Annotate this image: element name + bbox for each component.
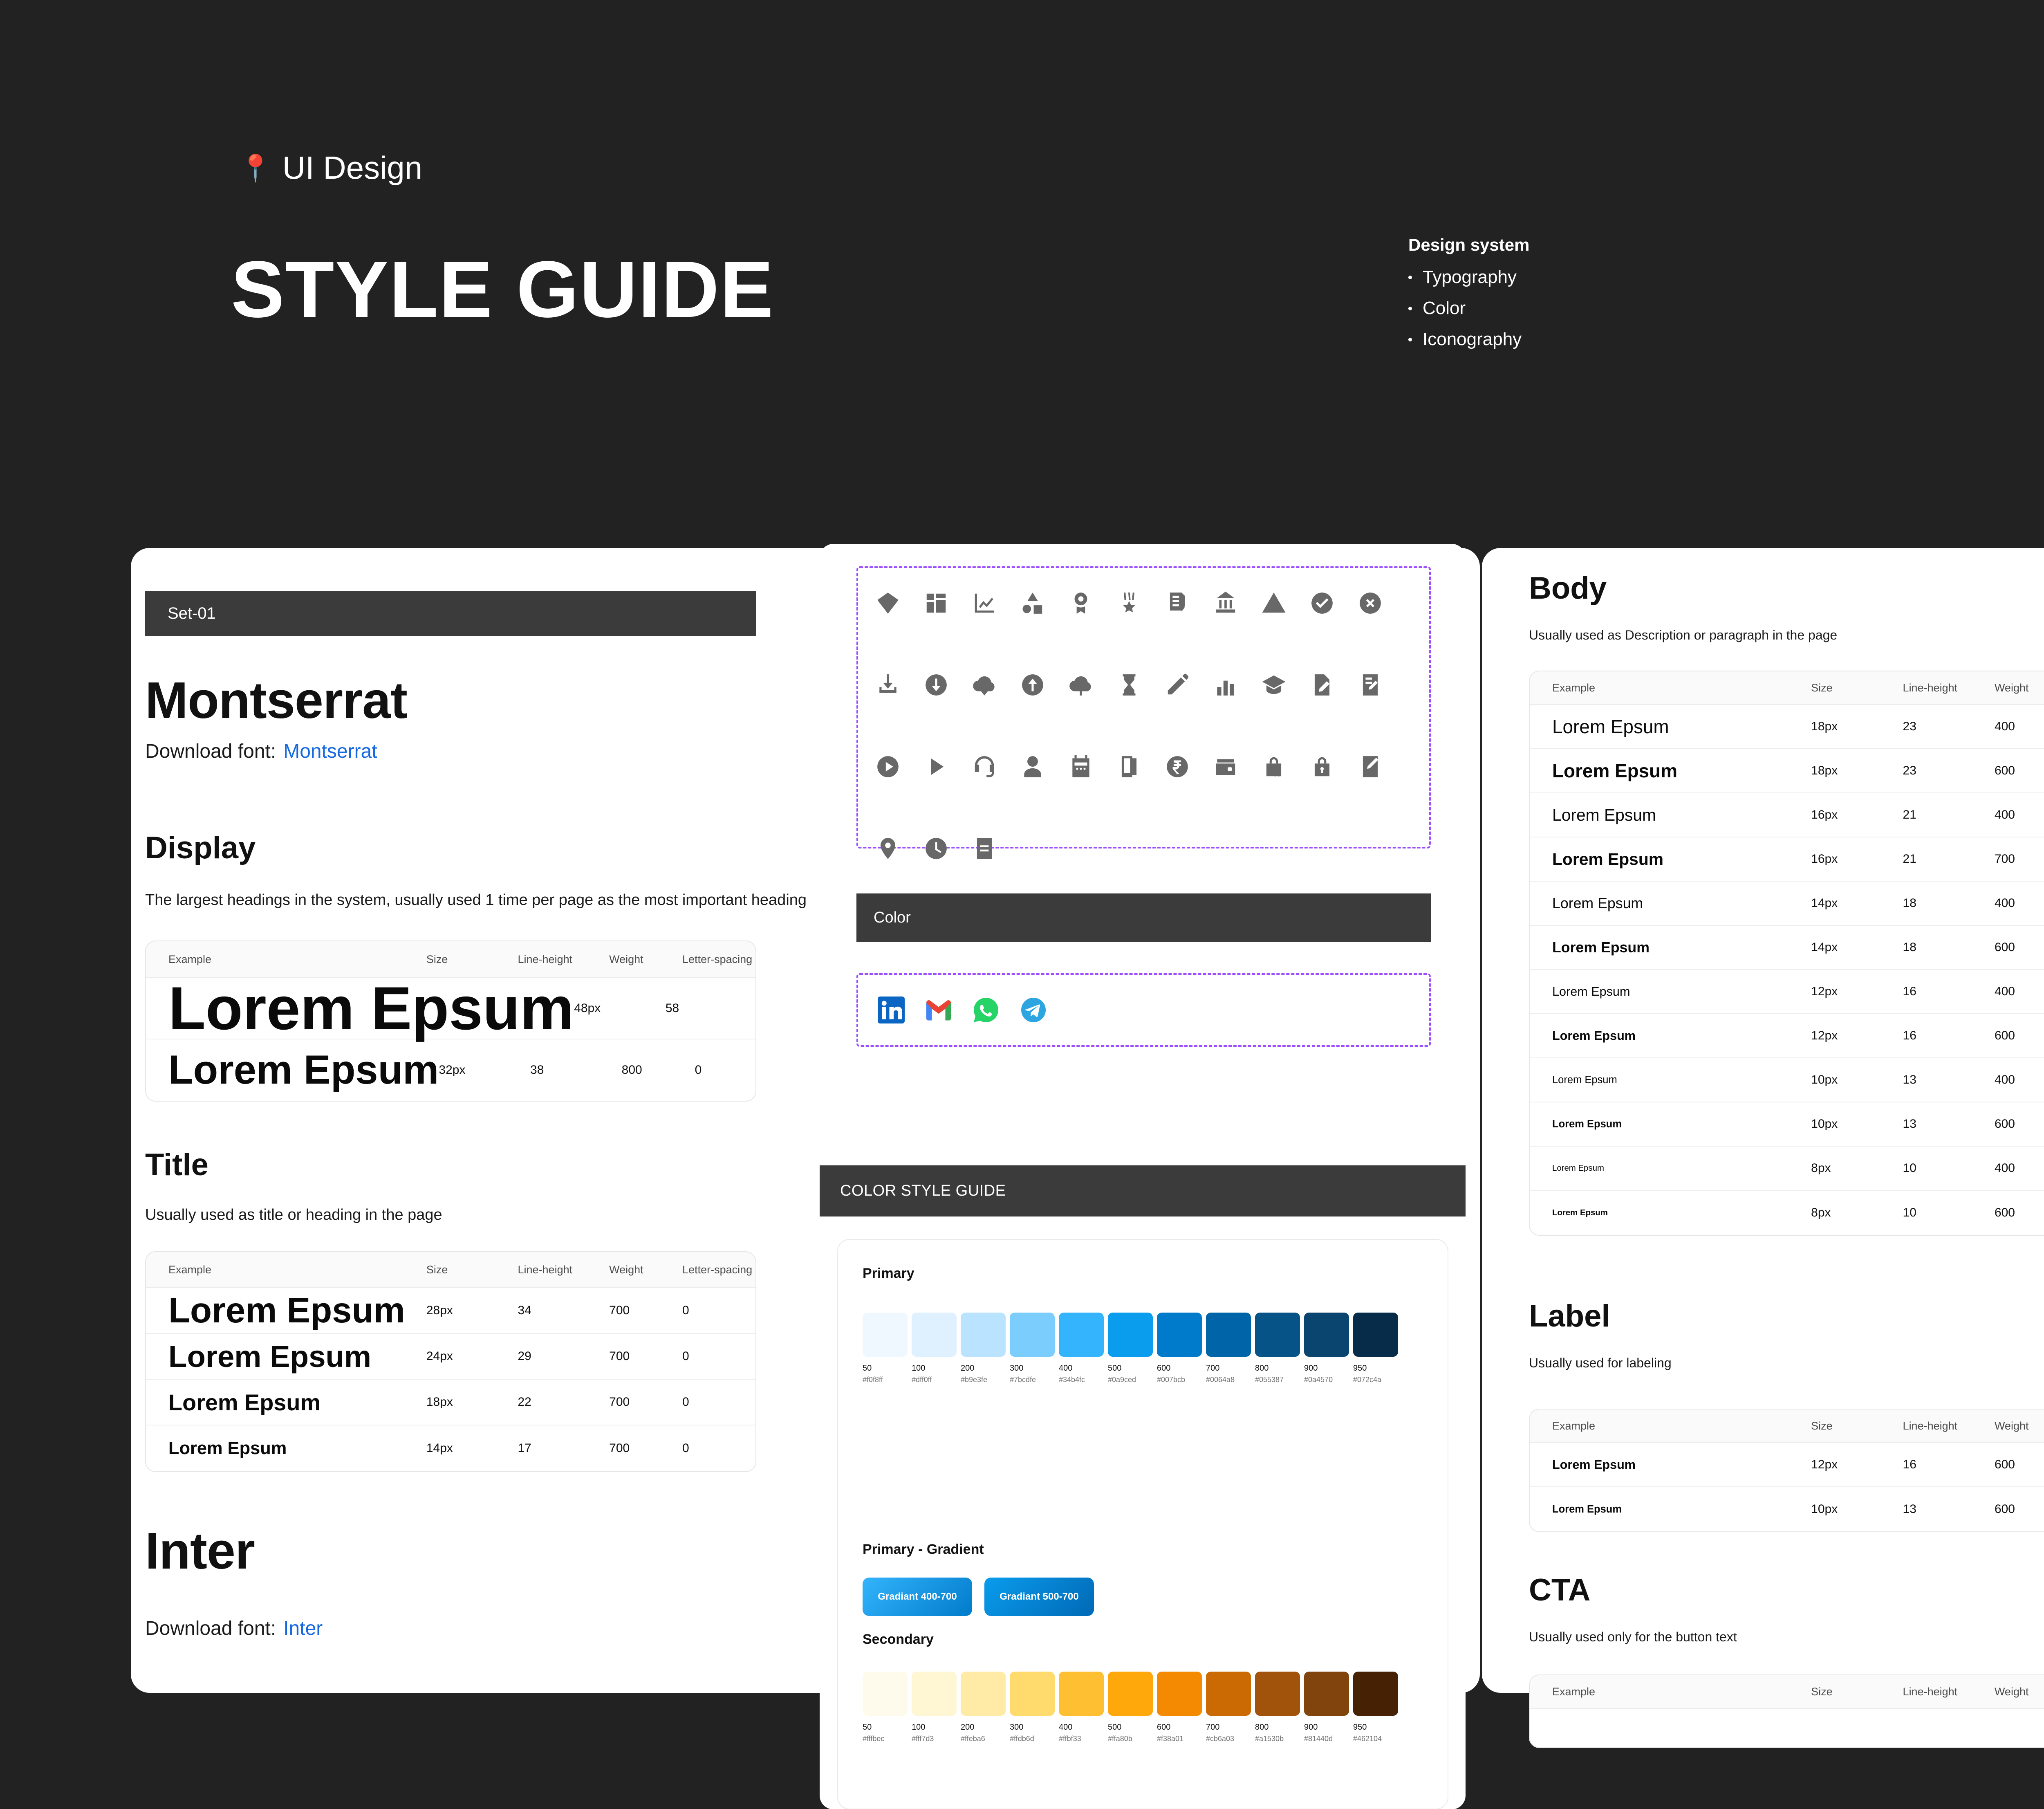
cell-size: 14px	[1811, 940, 1903, 954]
table-row: Lorem Epsum10px134000	[1530, 1058, 2044, 1102]
hourglass-icon[interactable]	[1116, 670, 1165, 700]
cell-line-height: 16	[1903, 985, 1995, 999]
design-system-list: Typography Color Iconography	[1408, 267, 1529, 350]
label-description: Usually used for labeling	[1529, 1356, 1672, 1371]
swatch-hex: #0a9ced	[1108, 1376, 1153, 1384]
example-text: Lorem Epsum	[168, 1340, 371, 1374]
cell-size: 14px	[1811, 896, 1903, 910]
cell-weight: 800	[622, 1063, 695, 1077]
rupee-icon[interactable]	[1165, 752, 1213, 781]
swatch-step: 200	[961, 1723, 1006, 1732]
swatch-hex: #f0f8ff	[863, 1376, 908, 1384]
design-system-item[interactable]: Iconography	[1408, 329, 1529, 350]
download-icon[interactable]	[875, 670, 923, 700]
cell-letter-spacing: 0	[682, 1395, 755, 1409]
color-swatch[interactable]: 50#fffbec	[863, 1672, 908, 1743]
cell-example: Lorem Epsum	[146, 973, 574, 1044]
award-icon[interactable]	[1068, 588, 1116, 618]
color-swatch[interactable]: 950#462104	[1353, 1672, 1398, 1743]
download-circle-icon[interactable]	[923, 670, 972, 700]
swatch-step: 700	[1206, 1364, 1251, 1373]
cell-letter-spacing: 0	[682, 1304, 755, 1317]
table-row: Lorem Epsum24px297000	[146, 1334, 755, 1380]
clock-icon[interactable]	[923, 834, 972, 863]
color-style-guide-label: COLOR STYLE GUIDE	[820, 1182, 1006, 1200]
font-download-link[interactable]: Montserrat	[283, 741, 377, 762]
color-swatch[interactable]: 100#fff7d3	[912, 1672, 957, 1743]
cell-line-height: 13	[1903, 1073, 1995, 1087]
swatch-hex: #b9e3fe	[961, 1376, 1006, 1384]
whatsapp-icon[interactable]	[971, 995, 1001, 1025]
color-style-guide-bar: COLOR STYLE GUIDE	[820, 1165, 1466, 1216]
swatch-chip	[1010, 1672, 1055, 1716]
cell-example: Lorem Epsum	[146, 1290, 426, 1331]
cell-example: Lorem Epsum	[1530, 1208, 1811, 1218]
icon-grid	[856, 566, 1431, 848]
cell-line-height: 34	[518, 1304, 610, 1317]
bullet-icon	[1408, 276, 1412, 279]
diamond-icon[interactable]	[875, 588, 923, 618]
swatch-step: 600	[1157, 1723, 1202, 1732]
cell-line-height: 17	[518, 1441, 610, 1455]
color-swatch[interactable]: 500#ffa80b	[1108, 1672, 1153, 1743]
cell-line-height: 18	[1903, 940, 1995, 954]
warning-icon[interactable]	[1261, 588, 1309, 618]
cancel-icon[interactable]	[1358, 588, 1406, 618]
design-system-item-label: Iconography	[1423, 329, 1522, 350]
title-heading: Title	[145, 1147, 208, 1183]
cell-line-height: 13	[1903, 1117, 1995, 1131]
swatch-chip	[1255, 1672, 1300, 1716]
gradient-400-700-box[interactable]: Gradiant 400-700	[863, 1578, 972, 1616]
color-swatch[interactable]: 600#f38a01	[1157, 1672, 1202, 1743]
color-swatch[interactable]: 400#34b4fc	[1059, 1313, 1104, 1384]
font-download-link[interactable]: Inter	[283, 1618, 323, 1639]
assignment-icon[interactable]	[1309, 670, 1358, 700]
book-icon[interactable]	[1116, 752, 1165, 781]
swatch-chip	[1059, 1313, 1104, 1357]
page-title: STYLE GUIDE	[231, 249, 774, 330]
swatch-chip	[1059, 1672, 1104, 1716]
cell-line-height: 16	[1903, 1029, 1995, 1043]
swatch-chip	[1353, 1672, 1398, 1716]
cell-weight: 700	[1995, 852, 2044, 866]
cta-description: Usually used only for the button text	[1529, 1629, 1737, 1645]
example-text: Lorem Epsum	[1552, 716, 1669, 737]
swatch-chip	[1108, 1672, 1153, 1716]
swatch-chip	[961, 1313, 1006, 1357]
swatch-chip	[863, 1313, 908, 1357]
color-swatch[interactable]: 200#b9e3fe	[961, 1313, 1006, 1384]
gmail-icon[interactable]	[924, 995, 953, 1025]
set-bar: Set-01	[145, 591, 756, 636]
table-header-row: ExampleSizeLine-heightWeightLetter-spaci…	[1530, 1675, 2044, 1709]
table-row: Lorem Epsum18px227000	[146, 1380, 755, 1425]
example-text: Lorem Epsum	[1552, 1074, 1617, 1086]
cell-weight: 700	[609, 1304, 682, 1317]
swatch-hex: #fffbec	[863, 1735, 908, 1743]
table-row: Lorem Epsum14px177000	[146, 1425, 755, 1471]
headset-icon[interactable]	[972, 752, 1020, 781]
cell-weight: 700	[609, 1441, 682, 1455]
linkedin-icon[interactable]	[876, 995, 906, 1025]
article-icon[interactable]	[1165, 588, 1213, 618]
cell-size: 8px	[1811, 1206, 1903, 1220]
bullet-icon	[1408, 338, 1412, 341]
swatch-step: 50	[863, 1364, 908, 1373]
cell-example: Lorem Epsum	[1530, 760, 1811, 782]
swatch-step: 100	[912, 1364, 957, 1373]
cell-weight: 600	[1995, 940, 2044, 954]
cell-letter-spacing: 0	[682, 1441, 755, 1455]
cta-table: ExampleSizeLine-heightWeightLetter-spaci…	[1529, 1674, 2044, 1748]
swatch-hex: #072c4a	[1353, 1376, 1398, 1384]
table-row: Lorem Epsum8px106000	[1530, 1191, 2044, 1235]
swatch-step: 700	[1206, 1723, 1251, 1732]
cell-size: 8px	[1811, 1161, 1903, 1175]
cell-size: 12px	[1811, 1458, 1903, 1472]
table-header-row: ExampleSizeLine-heightWeightLetter-spaci…	[146, 1252, 755, 1288]
lock-icon[interactable]	[1309, 752, 1358, 781]
swatch-chip	[1157, 1313, 1202, 1357]
cell-example: Lorem Epsum	[1530, 716, 1811, 738]
cell-line-height: 16	[1903, 1458, 1995, 1472]
bullet-icon	[1408, 307, 1412, 310]
column-header: Letter-spacing	[682, 953, 755, 966]
cell-example: Lorem Epsum	[1530, 850, 1811, 869]
swatch-step: 500	[1108, 1723, 1153, 1732]
edit-note-icon[interactable]	[1358, 752, 1406, 781]
cell-weight: 600	[1995, 1458, 2044, 1472]
swatch-step: 400	[1059, 1723, 1104, 1732]
color-swatch[interactable]: 50#f0f8ff	[863, 1313, 908, 1384]
example-text: Lorem Epsum	[168, 1291, 405, 1330]
column-header: Example	[146, 953, 426, 966]
color-swatch[interactable]: 700#cb6a03	[1206, 1672, 1251, 1743]
category-icon[interactable]	[1020, 588, 1068, 618]
color-swatch[interactable]: 600#007bcb	[1157, 1313, 1202, 1384]
column-header: Weight	[609, 1264, 682, 1276]
swatch-chip	[1255, 1313, 1300, 1357]
column-header: Example	[1530, 682, 1811, 694]
column-header: Line-height	[1903, 682, 1995, 694]
cell-weight: 400	[1995, 1073, 2044, 1087]
swatch-hex: #81440d	[1304, 1735, 1349, 1743]
cell-example: Lorem Epsum	[146, 1389, 426, 1416]
swatch-step: 950	[1353, 1723, 1398, 1732]
gradient-500-700-box[interactable]: Gradiant 500-700	[984, 1578, 1094, 1616]
cell-example: Lorem Epsum	[1530, 1504, 1811, 1515]
cell-weight: 400	[1995, 985, 2044, 999]
swatch-step: 100	[912, 1723, 957, 1732]
color-swatch[interactable]: 700#0064a8	[1206, 1313, 1251, 1384]
download-font-inter: Download font:Inter	[145, 1617, 323, 1640]
column-header: Line-height	[1903, 1420, 1995, 1432]
cell-weight: 700	[609, 1395, 682, 1409]
pencil-icon[interactable]	[1165, 670, 1213, 700]
table-header-row: ExampleSizeLine-heightWeightLetter-spaci…	[1530, 1409, 2044, 1443]
label-table: ExampleSizeLine-heightWeightLetter-spaci…	[1529, 1409, 2044, 1532]
display-table: ExampleSizeLine-heightWeightLetter-spaci…	[145, 940, 756, 1102]
cell-size: 14px	[426, 1441, 518, 1455]
table-row: Lorem Epsum8px104000	[1530, 1147, 2044, 1191]
color-swatch[interactable]: 200#ffeba6	[961, 1672, 1006, 1743]
table-row: Lorem Epsum12px166000	[1530, 1014, 2044, 1058]
column-header: Line-height	[1903, 1686, 1995, 1698]
cell-example: Lorem Epsum	[1530, 1164, 1811, 1173]
swatch-hex: #055387	[1255, 1376, 1300, 1384]
example-text: Lorem Epsum	[1552, 1208, 1608, 1217]
cell-line-height: 21	[1903, 852, 1995, 866]
swatch-chip	[1010, 1313, 1055, 1357]
color-swatch[interactable]: 100#dff0ff	[912, 1313, 957, 1384]
cta-heading: CTA	[1529, 1572, 1591, 1608]
swatch-hex: #ffdb6d	[1010, 1735, 1055, 1743]
swatch-step: 950	[1353, 1364, 1398, 1373]
cell-weight: 600	[1995, 1117, 2044, 1131]
cell-line-height: 38	[530, 1063, 622, 1077]
column-header: Line-height	[518, 953, 610, 966]
icon-row	[875, 834, 1429, 863]
cell-example: Lorem Epsum	[1530, 895, 1811, 912]
person-icon[interactable]	[1020, 752, 1068, 781]
calendar-icon[interactable]	[1068, 752, 1116, 781]
style-guide-page: 📍 UI Design STYLE GUIDE Design system Ty…	[0, 0, 2044, 1809]
cell-weight: 400	[1995, 896, 2044, 910]
body-table: ExampleSizeLine-heightWeightLetter-spaci…	[1529, 671, 2044, 1236]
cell-line-height: 10	[1903, 1161, 1995, 1175]
column-header: Example	[1530, 1686, 1811, 1698]
bank-icon[interactable]	[1213, 588, 1261, 618]
lock-star-icon[interactable]	[1261, 752, 1309, 781]
title-table: ExampleSizeLine-heightWeightLetter-spaci…	[145, 1251, 756, 1472]
cell-example: Lorem Epsum	[146, 1439, 426, 1459]
column-header: Weight	[1995, 1420, 2044, 1432]
example-text: Lorem Epsum	[1552, 1458, 1636, 1472]
school-icon[interactable]	[1261, 670, 1309, 700]
swatch-chip	[1353, 1313, 1398, 1357]
location-pin-icon[interactable]	[875, 834, 923, 863]
check-circle-icon[interactable]	[1309, 588, 1358, 618]
pin-icon: 📍	[239, 155, 272, 181]
cell-line-height: 23	[1903, 720, 1995, 734]
cell-weight: 600	[1995, 1029, 2044, 1043]
cell-example: Lorem Epsum	[1530, 1074, 1811, 1086]
table-row: Lorem Epsum10px136002%	[1530, 1487, 2044, 1531]
swatch-hex: #462104	[1353, 1735, 1398, 1743]
gradient-row: Gradiant 400-700 Gradiant 500-700	[863, 1578, 1094, 1616]
swatch-chip	[961, 1672, 1006, 1716]
military-medal-icon[interactable]	[1116, 588, 1165, 618]
design-system-item-label: Typography	[1423, 267, 1517, 287]
cell-size: 10px	[1811, 1117, 1903, 1131]
color-swatch[interactable]: 800#a1530b	[1255, 1672, 1300, 1743]
color-swatch[interactable]: 300#7bcdfe	[1010, 1313, 1055, 1384]
column-header: Weight	[1995, 1686, 2044, 1698]
column-header: Size	[426, 953, 518, 966]
swatch-hex: #34b4fc	[1059, 1376, 1104, 1384]
swatch-hex: #dff0ff	[912, 1376, 957, 1384]
swatch-hex: #0a4570	[1304, 1376, 1349, 1384]
column-header: Size	[1811, 682, 1903, 694]
body-heading: Body	[1529, 570, 1607, 606]
table-row: Lorem Epsum14px186000	[1530, 926, 2044, 970]
cell-size: 10px	[1811, 1502, 1903, 1516]
color-swatch[interactable]: 900#81440d	[1304, 1672, 1349, 1743]
swatch-step: 300	[1010, 1364, 1055, 1373]
cell-size: 18px	[1811, 764, 1903, 778]
telegram-icon[interactable]	[1019, 995, 1048, 1025]
cell-size: 10px	[1811, 1073, 1903, 1087]
swatch-hex: #007bcb	[1157, 1376, 1202, 1384]
example-text: Lorem Epsum	[168, 1389, 320, 1415]
cell-line-height: 22	[518, 1395, 610, 1409]
list-icon[interactable]	[972, 834, 1020, 863]
swatch-chip	[1157, 1672, 1202, 1716]
display-heading: Display	[145, 830, 255, 866]
analytics-icon[interactable]	[972, 588, 1020, 618]
cell-weight: 400	[1995, 1161, 2044, 1175]
swatch-chip	[912, 1313, 957, 1357]
cell-weight: 400	[1995, 808, 2044, 822]
icon-row	[875, 670, 1429, 700]
swatch-step: 600	[1157, 1364, 1202, 1373]
swatch-hex: #f38a01	[1157, 1735, 1202, 1743]
design-system-title: Design system	[1408, 235, 1529, 255]
cell-size: 18px	[426, 1395, 518, 1409]
cloud-upload-icon[interactable]	[1068, 670, 1116, 700]
color-swatch[interactable]: 800#055387	[1255, 1313, 1300, 1384]
cell-weight: 700	[609, 1349, 682, 1363]
cloud-download-icon[interactable]	[972, 670, 1020, 700]
swatch-chip	[1206, 1313, 1251, 1357]
example-text: Lorem Epsum	[1552, 1504, 1622, 1515]
table-row: Lorem Epsum14px184000	[1530, 882, 2044, 926]
cell-example: Lorem Epsum	[1530, 806, 1811, 825]
bar-chart-icon[interactable]	[1213, 670, 1261, 700]
color-swatch[interactable]: 500#0a9ced	[1108, 1313, 1153, 1384]
column-header: Size	[426, 1264, 518, 1276]
icon-row	[875, 752, 1429, 781]
cell-size: 28px	[426, 1304, 518, 1317]
swatch-hex: #fff7d3	[912, 1735, 957, 1743]
example-text: Lorem Epsum	[1552, 939, 1650, 956]
cell-size: 16px	[1811, 808, 1903, 822]
cell-example: Lorem Epsum	[1530, 939, 1811, 956]
column-header: Size	[1811, 1420, 1903, 1432]
design-system-block: Design system Typography Color Iconograp…	[1408, 235, 1529, 360]
download-font-montserrat: Download font:Montserrat	[145, 740, 377, 763]
cell-size: 18px	[1811, 720, 1903, 734]
color-swatch[interactable]: 950#072c4a	[1353, 1313, 1398, 1384]
cell-line-height: 23	[1903, 764, 1995, 778]
table-row: Lorem Epsum12px166002%	[1530, 1443, 2044, 1487]
cell-example: Lorem Epsum	[146, 1047, 439, 1093]
display-description: The largest headings in the system, usua…	[145, 891, 807, 909]
swatch-chip	[1304, 1313, 1349, 1357]
design-system-item-label: Color	[1423, 298, 1466, 319]
table-header-row: ExampleSizeLine-heightWeightLetter-spaci…	[1530, 671, 2044, 705]
header-kicker-label: UI Design	[282, 149, 422, 186]
example-text: Lorem Epsum	[1552, 1164, 1604, 1173]
swatch-hex: #ffbf33	[1059, 1735, 1104, 1743]
swatch-hex: #ffeba6	[961, 1735, 1006, 1743]
column-header: Letter-spacing	[682, 1264, 755, 1276]
swatch-hex: #ffa80b	[1108, 1735, 1153, 1743]
design-system-item[interactable]: Typography	[1408, 267, 1529, 287]
play-arrow-icon[interactable]	[923, 752, 972, 781]
primary-swatch-row: 50#f0f8ff100#dff0ff200#b9e3fe300#7bcdfe4…	[863, 1313, 1398, 1384]
column-header: Example	[1530, 1420, 1811, 1432]
primary-label: Primary	[863, 1266, 914, 1282]
example-text: Lorem Epsum	[1552, 806, 1656, 824]
swatch-step: 900	[1304, 1723, 1349, 1732]
table-row: Lorem Epsum16px214000	[1530, 793, 2044, 837]
title-description: Usually used as title or heading in the …	[145, 1206, 442, 1224]
cell-size: 32px	[439, 1063, 530, 1077]
example-text: Lorem Epsum	[1552, 985, 1630, 999]
example-text: Lorem Epsum	[168, 974, 574, 1042]
table-row: Lorem Epsum18px234000	[1530, 705, 2044, 749]
cell-line-height: 58	[666, 1001, 756, 1015]
column-header: Weight	[1995, 682, 2044, 694]
column-header: Size	[1811, 1686, 1903, 1698]
cell-size: 16px	[1811, 852, 1903, 866]
table-row: Lorem Epsum32px388000	[146, 1039, 755, 1101]
cell-line-height: 21	[1903, 808, 1995, 822]
color-swatch[interactable]: 300#ffdb6d	[1010, 1672, 1055, 1743]
cell-line-height: 13	[1903, 1502, 1995, 1516]
cell-letter-spacing: 0	[682, 1349, 755, 1363]
swatch-step: 300	[1010, 1723, 1055, 1732]
design-system-item[interactable]: Color	[1408, 298, 1529, 319]
swatch-chip	[863, 1672, 908, 1716]
swatch-hex: #0064a8	[1206, 1376, 1251, 1384]
column-header: Example	[146, 1264, 426, 1276]
cell-line-height: 29	[518, 1349, 610, 1363]
swatch-hex: #a1530b	[1255, 1735, 1300, 1743]
example-text: Lorem Epsum	[168, 1439, 287, 1458]
header-kicker: 📍 UI Design	[239, 149, 422, 186]
column-header: Line-height	[518, 1264, 610, 1276]
swatch-step: 400	[1059, 1364, 1104, 1373]
swatch-hex: #7bcdfe	[1010, 1376, 1055, 1384]
cell-example: Lorem Epsum	[1530, 1118, 1811, 1130]
example-text: Lorem Epsum	[1552, 760, 1677, 781]
swatch-step: 50	[863, 1723, 908, 1732]
font-name-montserrat: Montserrat	[145, 671, 407, 730]
color-swatch[interactable]: 400#ffbf33	[1059, 1672, 1104, 1743]
upload-circle-icon[interactable]	[1020, 670, 1068, 700]
swatch-chip	[1108, 1313, 1153, 1357]
dashboard-icon[interactable]	[923, 588, 972, 618]
color-swatch[interactable]: 900#0a4570	[1304, 1313, 1349, 1384]
table-row: Lorem Epsum12px164000	[1530, 970, 2044, 1014]
table-row: Lorem Epsum10px136000	[1530, 1102, 2044, 1147]
example-text: Lorem Epsum	[1552, 895, 1643, 911]
play-circle-icon[interactable]	[875, 752, 923, 781]
cell-size: 48px	[574, 1001, 666, 1015]
cell-size: 12px	[1811, 985, 1903, 999]
swatch-chip	[912, 1672, 957, 1716]
cell-line-height: 10	[1903, 1206, 1995, 1220]
assignment-edit-icon[interactable]	[1358, 670, 1406, 700]
wallet-icon[interactable]	[1213, 752, 1261, 781]
cell-line-height: 18	[1903, 896, 1995, 910]
font-name-inter: Inter	[145, 1521, 255, 1580]
cell-example: Lorem Epsum	[1530, 1029, 1811, 1043]
cell-example: Lorem Epsum	[1530, 985, 1811, 999]
